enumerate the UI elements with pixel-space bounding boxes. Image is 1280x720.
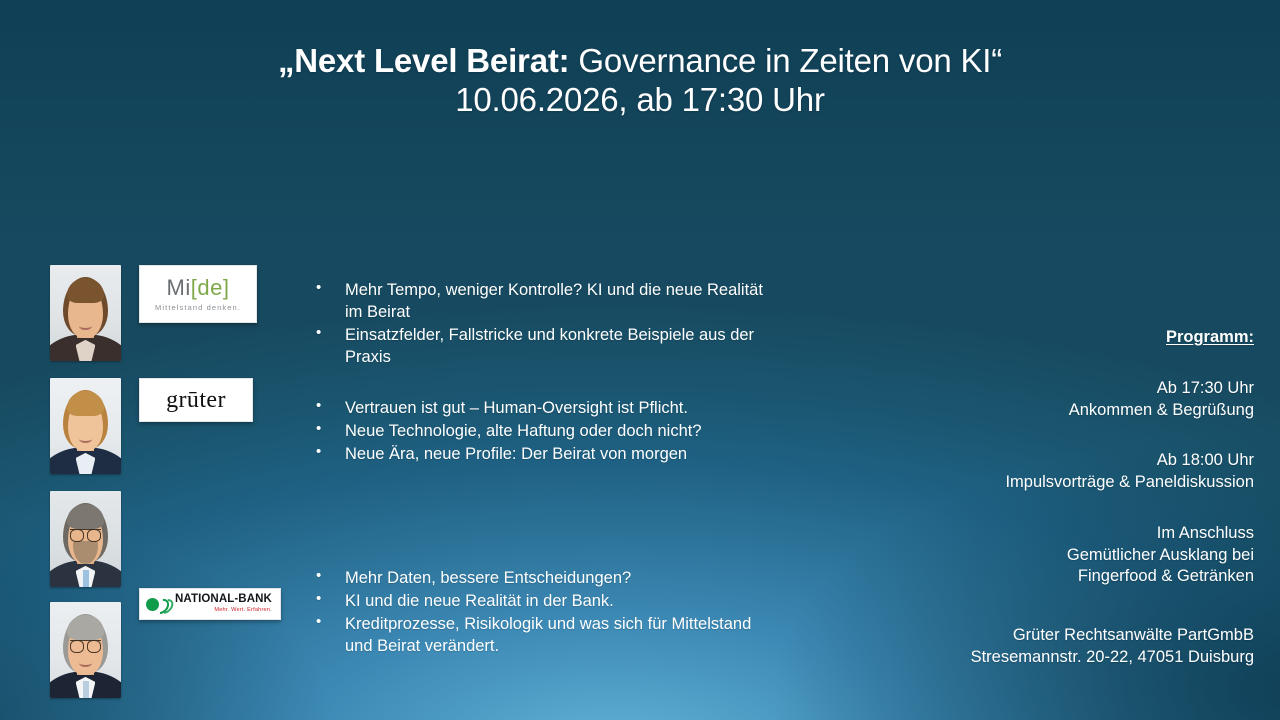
portrait-speaker-4 — [50, 602, 121, 698]
venue-line-1: Grüter Rechtsanwälte PartGmbB — [834, 625, 1254, 647]
list-item: Neue Ära, neue Profile: Der Beirat von m… — [310, 443, 780, 465]
national-bank-logo-text: NATIONAL-BANK — [175, 594, 272, 606]
mide-logo-tagline: Mittelstand denken. — [155, 303, 241, 312]
program-block-3: Im Anschluss Gemütlicher Ausklang bei Fi… — [834, 523, 1254, 588]
gruter-logo-wordmark: grūter — [166, 388, 226, 412]
national-bank-mark-icon — [146, 598, 168, 611]
bullet-group-national-bank: Mehr Daten, bessere Entscheidungen? KI u… — [310, 567, 780, 658]
bullet-group-gruter: Vertrauen ist gut – Human-Oversight ist … — [310, 397, 780, 466]
program-block-1: Ab 17:30 Uhr Ankommen & Begrüßung — [834, 378, 1254, 422]
speaker-row-4: NATIONAL-BANK Mehr. Wert. Erfahren. — [50, 602, 290, 698]
list-item: Neue Technologie, alte Haftung oder doch… — [310, 420, 780, 442]
presentation-slide: „Next Level Beirat: Governance in Zeiten… — [0, 0, 1280, 720]
program-block-2: Ab 18:00 Uhr Impulsvorträge & Paneldisku… — [834, 450, 1254, 494]
national-bank-logo-tagline: Mehr. Wert. Erfahren. — [214, 608, 272, 614]
title-line-1: „Next Level Beirat: Governance in Zeiten… — [90, 42, 1190, 81]
speaker-row-2: grūter — [50, 378, 290, 474]
list-item: Vertrauen ist gut – Human-Oversight ist … — [310, 397, 780, 419]
bullet-group-mide: Mehr Tempo, weniger Kontrolle? KI und di… — [310, 279, 780, 369]
speaker-row-1: Mi[de] Mittelstand denken. — [50, 265, 290, 361]
title-regular-part: Governance in Zeiten von KI“ — [569, 42, 1002, 79]
venue-line-2: Stresemannstr. 20-22, 47051 Duisburg — [834, 647, 1254, 669]
program-heading: Programm: — [834, 327, 1254, 349]
program-time: Im Anschluss — [834, 523, 1254, 545]
national-bank-logo: NATIONAL-BANK Mehr. Wert. Erfahren. — [139, 588, 281, 620]
program-description: Impulsvorträge & Paneldiskussion — [834, 472, 1254, 494]
title-quote-open: „ — [278, 42, 294, 79]
portrait-speaker-1 — [50, 265, 121, 361]
program-time: Ab 18:00 Uhr — [834, 450, 1254, 472]
portrait-speaker-2 — [50, 378, 121, 474]
title-bold-part: Next Level Beirat: — [294, 42, 569, 79]
program-description: Gemütlicher Ausklang bei — [834, 545, 1254, 567]
title-line-2: 10.06.2026, ab 17:30 Uhr — [90, 81, 1190, 120]
portrait-speaker-3 — [50, 491, 121, 587]
eyeglasses-icon — [70, 529, 101, 541]
mide-logo-text-bracket: [de] — [191, 275, 230, 300]
program-time: Ab 17:30 Uhr — [834, 378, 1254, 400]
slide-title: „Next Level Beirat: Governance in Zeiten… — [90, 42, 1190, 119]
program-description: Ankommen & Begrüßung — [834, 400, 1254, 422]
list-item: KI und die neue Realität in der Bank. — [310, 590, 780, 612]
list-item: Mehr Tempo, weniger Kontrolle? KI und di… — [310, 279, 780, 323]
gruter-logo-text: grūter — [166, 387, 226, 413]
venue-block: Grüter Rechtsanwälte PartGmbB Stresemann… — [834, 625, 1254, 669]
program-column: Programm: Ab 17:30 Uhr Ankommen & Begrüß… — [834, 327, 1254, 669]
eyeglasses-icon — [70, 640, 101, 652]
speaker-row-3 — [50, 491, 290, 587]
program-description-2: Fingerfood & Getränken — [834, 566, 1254, 588]
mide-logo-text-primary: Mi — [167, 275, 191, 300]
mide-logo: Mi[de] Mittelstand denken. — [139, 265, 257, 323]
list-item: Kreditprozesse, Risikologik und was sich… — [310, 613, 780, 657]
mide-logo-wordmark: Mi[de] — [167, 277, 230, 299]
list-item: Mehr Daten, bessere Entscheidungen? — [310, 567, 780, 589]
gruter-logo: grūter — [139, 378, 253, 422]
list-item: Einsatzfelder, Fallstricke und konkrete … — [310, 324, 780, 368]
